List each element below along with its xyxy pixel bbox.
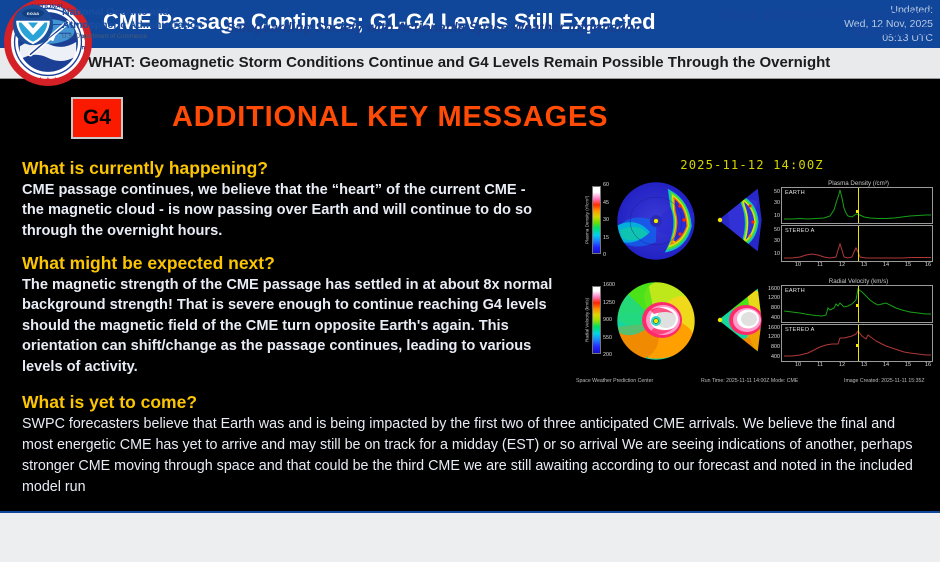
enlil-caption-left: Space Weather Prediction Center [576, 378, 653, 384]
colorbar-plasma-density-title: Plasma Density (r²/cm³) [582, 186, 592, 254]
subheader-text: WHAT: Geomagnetic Storm Conditions Conti… [88, 54, 830, 71]
section-body-next: The magnetic strength of the CME passage… [22, 275, 567, 377]
section-heading-next: What might be expected next? [22, 253, 275, 274]
xtick: 13 [861, 262, 867, 268]
colorbar-plasma-density-ticks: 60 45 30 15 0 [603, 182, 609, 258]
noaa-agency-line2: Atmospheric Administration [62, 19, 203, 32]
xtick: 10 [795, 262, 801, 268]
section-heading-yet-to-come: What is yet to come? [22, 392, 197, 413]
footer-tagline: Safeguarding Society with Actionable Spa… [226, 20, 642, 35]
timeseries-density-earth-panel: EARTH 50 30 10 [781, 187, 933, 224]
timeseries-radial-velocity-title: Radial Velocity (km/s) [781, 278, 936, 285]
footer-center-name: Space Weather Prediction Center [719, 6, 930, 23]
xtick: 16 [925, 262, 931, 268]
timeseries-velocity-stereoa-panel: STEREO A 1600 1200 800 400 10 11 12 13 1… [781, 324, 933, 362]
xtick: 15 [905, 362, 911, 368]
ytick: 800 [771, 344, 780, 350]
xtick: 11 [817, 362, 823, 368]
noaa-department-line: U.S. Department of Commerce [62, 33, 147, 40]
enlil-caption-runtime: Run Time: 2025-11-11 14:00Z Mode: CME [701, 378, 798, 384]
ytick: 30 [774, 238, 780, 244]
ytick: 50 [774, 189, 780, 195]
ytick: 400 [771, 354, 780, 360]
xtick: 11 [817, 262, 823, 268]
noaa-agency-line1: National Oceanic and [62, 6, 203, 19]
xtick: 16 [925, 362, 931, 368]
swpc-key-messages-slide: CME Passage Continues; G1-G4 Levels Stil… [0, 0, 940, 562]
timeseries-plasma-density-title: Plasma Density (/cm³) [781, 180, 936, 187]
enlil-caption-created: Image Created: 2025-11-11 15:35Z [844, 378, 925, 384]
tick: 0 [603, 252, 609, 258]
tick: 30 [603, 217, 609, 223]
g4-badge: G4 [71, 97, 123, 139]
section-heading-current: What is currently happening? [22, 158, 268, 179]
timeseries-density-stereoa-panel: STEREO A 50 30 10 10 11 12 13 14 15 16 [781, 225, 933, 262]
svg-text:noaa: noaa [27, 11, 39, 16]
xtick: 12 [839, 262, 845, 268]
current-time-marker [858, 188, 859, 223]
tick: 60 [603, 182, 609, 188]
ytick: 10 [774, 213, 780, 219]
additional-key-messages-title: ADDITIONAL KEY MESSAGES [172, 101, 608, 134]
current-time-marker [858, 226, 859, 261]
trace-label-stereo-a: STEREO A [785, 228, 815, 234]
noaa-agency-name: National Oceanic and Atmospheric Adminis… [62, 6, 203, 31]
footer-bar [0, 511, 940, 562]
tick: 15 [603, 235, 609, 241]
now-dot [856, 304, 859, 307]
ytick: 1200 [768, 334, 780, 340]
ytick: 1600 [768, 286, 780, 292]
ytick: 30 [774, 200, 780, 206]
tick: 45 [603, 200, 609, 206]
section-body-current: CME passage continues, we believe that t… [22, 180, 542, 241]
now-dot [856, 344, 859, 347]
ytick: 1200 [768, 295, 780, 301]
ytick: 10 [774, 251, 780, 257]
svg-text:★ ★ ★: ★ ★ ★ [37, 77, 58, 84]
enlil-date-stamp: 2025-11-12 14:00Z [566, 158, 938, 172]
xtick: 10 [795, 362, 801, 368]
colorbar-plasma-density: Plasma Density (r²/cm³) 60 45 30 15 0 [592, 186, 601, 254]
xtick: 14 [883, 362, 889, 368]
trace-label-earth: EARTH [785, 190, 805, 196]
current-time-marker [858, 325, 859, 361]
timeseries-velocity-earth-panel: EARTH 1600 1200 800 400 [781, 285, 933, 323]
xtick: 12 [839, 362, 845, 368]
ytick: 800 [771, 305, 780, 311]
ytick: 50 [774, 227, 780, 233]
xtick: 14 [883, 262, 889, 268]
ytick: 400 [771, 315, 780, 321]
colorbar-radial-velocity-title: Radial Velocity (km/s) [582, 286, 592, 354]
ytick: 1600 [768, 325, 780, 331]
section-body-yet-to-come: SWPC forecasters believe that Earth was … [22, 414, 927, 498]
now-dot [856, 210, 859, 213]
footer-center-location: Boulder, CO [719, 23, 930, 40]
trace-label-earth: EARTH [785, 288, 805, 294]
xtick: 13 [861, 362, 867, 368]
xtick: 15 [905, 262, 911, 268]
enlil-model-graphic[interactable]: 2025-11-12 14:00Z Plasma Density (r²/cm³… [566, 156, 938, 388]
colorbar-radial-velocity: Radial Velocity (km/s) 1600 1250 900 550… [592, 286, 601, 354]
footer-center-block: Space Weather Prediction Center Boulder,… [719, 6, 930, 40]
noaa-seal-icon: noaa [12, 4, 54, 46]
trace-label-stereo-a: STEREO A [785, 327, 815, 333]
